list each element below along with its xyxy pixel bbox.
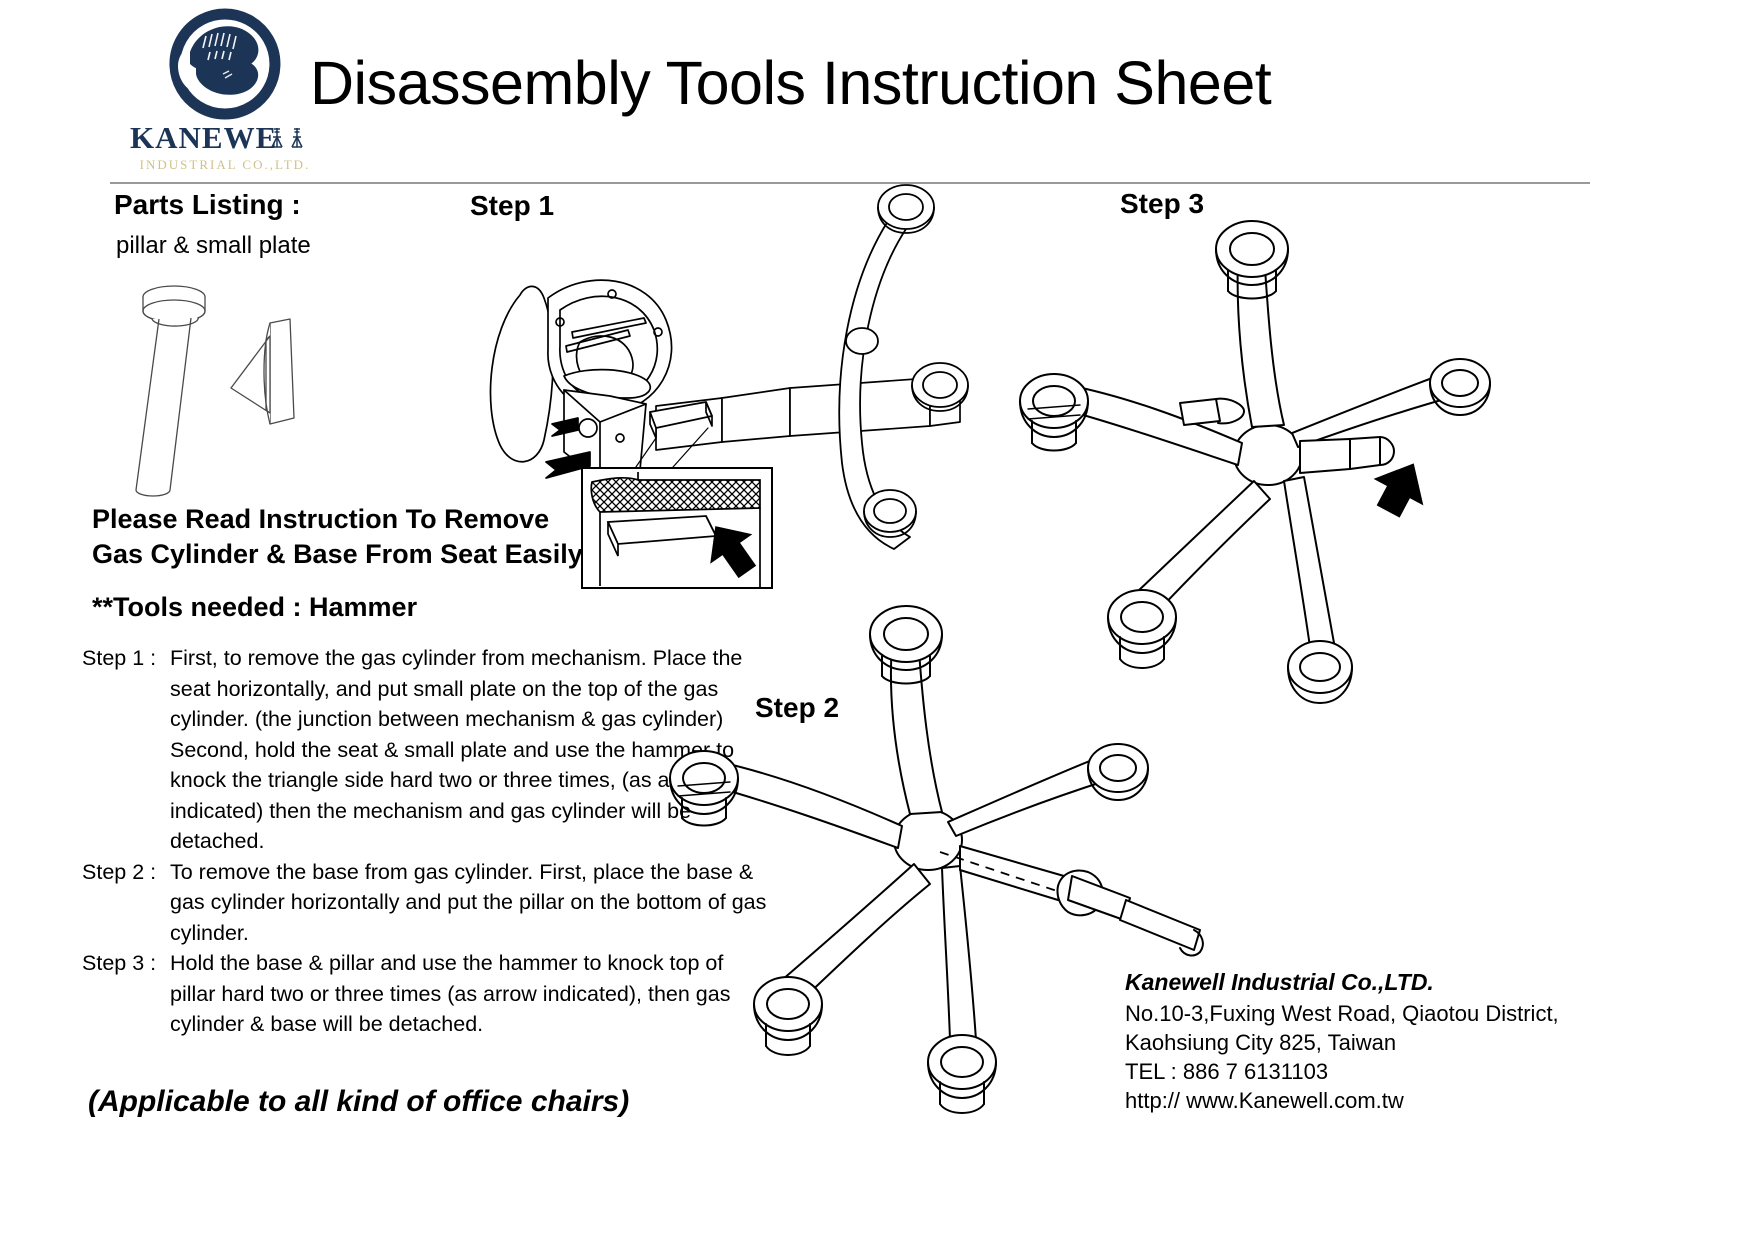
contact-website: http:// www.Kanewell.com.tw bbox=[1125, 1086, 1575, 1115]
step-3-illustration bbox=[1020, 215, 1540, 735]
step-1-caption: Step 1 bbox=[470, 190, 554, 222]
step-label: Step 3 : bbox=[82, 948, 170, 979]
instruction-sheet-page: KANEWELL INDUSTRIAL CO.,LTD. bbox=[0, 0, 1754, 1241]
logo-wordmark-text: KANEWE bbox=[130, 120, 277, 155]
step-1-chair-base-illustration bbox=[790, 185, 1020, 585]
contact-company-name: Kanewell Industrial Co.,LTD. bbox=[1125, 969, 1575, 996]
header-divider bbox=[110, 182, 1590, 184]
step-3-caption: Step 3 bbox=[1120, 188, 1204, 220]
step-3-hammer-arrow bbox=[1366, 453, 1436, 523]
step-body: First, to remove the gas cylinder from m… bbox=[170, 643, 772, 857]
step-1-detail-callout bbox=[582, 468, 772, 588]
step-instruction-row: Step 3 : Hold the base & pillar and use … bbox=[82, 948, 772, 1040]
step-instructions-list: Step 1 : First, to remove the gas cylind… bbox=[82, 643, 772, 1040]
notice-line-1: Please Read Instruction To Remove bbox=[92, 502, 583, 537]
parts-listing-heading: Parts Listing : bbox=[114, 189, 301, 221]
step-2-caption: Step 2 bbox=[755, 692, 839, 724]
notice-heading: Please Read Instruction To Remove Gas Cy… bbox=[92, 502, 583, 572]
step-body: Hold the base & pillar and use the hamme… bbox=[170, 948, 772, 1040]
notice-line-2: Gas Cylinder & Base From Seat Easily bbox=[92, 537, 583, 572]
parts-illustration bbox=[118, 278, 318, 493]
parts-listing-subtitle: pillar & small plate bbox=[116, 232, 311, 260]
step-instruction-row: Step 1 : First, to remove the gas cylind… bbox=[82, 643, 772, 857]
step-label: Step 1 : bbox=[82, 643, 170, 674]
contact-address-line-2: Kaohsiung City 825, Taiwan bbox=[1125, 1028, 1575, 1057]
logo-subtitle: INDUSTRIAL CO.,LTD. bbox=[130, 157, 320, 173]
logo-wordmark: KANEWELL bbox=[130, 122, 321, 153]
contact-address-line-1: No.10-3,Fuxing West Road, Qiaotou Distri… bbox=[1125, 999, 1575, 1028]
page-title: Disassembly Tools Instruction Sheet bbox=[310, 48, 1271, 118]
step-body: To remove the base from gas cylinder. Fi… bbox=[170, 857, 772, 949]
step-label: Step 2 : bbox=[82, 857, 170, 888]
applicable-note: (Applicable to all kind of office chairs… bbox=[88, 1085, 629, 1119]
step-instruction-row: Step 2 : To remove the base from gas cyl… bbox=[82, 857, 772, 949]
chair-glyph-icons bbox=[271, 125, 319, 156]
tools-needed-text: **Tools needed : Hammer bbox=[92, 592, 417, 623]
company-logo: KANEWELL INDUSTRIAL CO.,LTD. bbox=[130, 8, 320, 173]
contact-telephone: TEL : 886 7 6131103 bbox=[1125, 1057, 1575, 1086]
contact-block: Kanewell Industrial Co.,LTD. No.10-3,Fux… bbox=[1125, 969, 1575, 1115]
kanewell-logo-icon bbox=[160, 8, 290, 120]
